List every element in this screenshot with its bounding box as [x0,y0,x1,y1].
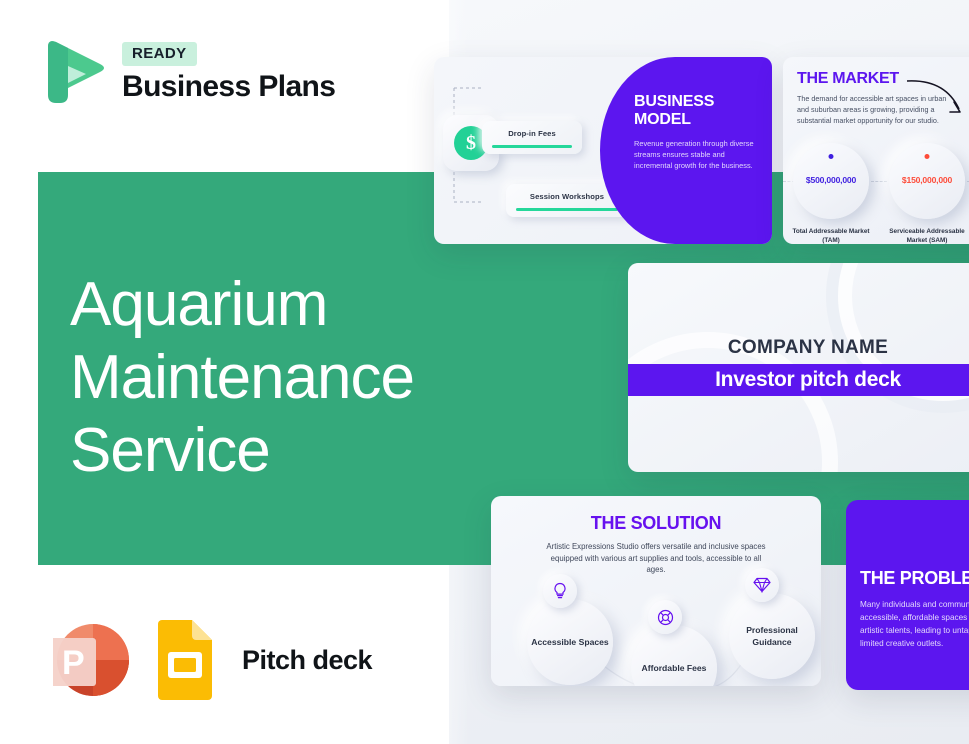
problem-title: THE PROBLEM [860,568,969,589]
accent-bar [492,145,572,148]
solution-description: Artistic Expressions Studio offers versa… [541,541,771,576]
lightbulb-icon [552,582,568,600]
format-label: Pitch deck [242,645,372,676]
market-description: The demand for accessible art spaces in … [797,93,959,126]
slide-the-market[interactable]: THE MARKET The demand for accessible art… [783,57,969,244]
revenue-item-label: Drop-in Fees [482,121,582,138]
powerpoint-icon: P [40,616,136,704]
metric-caption: Total Addressable Market (TAM) [783,227,879,244]
business-model-description: Revenue generation through diverse strea… [634,138,758,171]
market-title: THE MARKET [797,70,899,88]
solution-node-0[interactable]: Accessible Spaces [527,599,613,685]
market-dash-mid [871,181,887,182]
market-metric-0: $500,000,000 [793,143,869,219]
metric-caption: Serviceable Addressable Market (SAM) [879,227,969,244]
business-model-title: BUSINESS MODEL [634,93,758,129]
company-name: COMPANY NAME [628,337,969,359]
problem-description: Many individuals and communities lack ac… [860,598,969,650]
slide-business-model[interactable]: $ Drop-in Fees Session Workshops Commiss… [434,57,772,244]
metric-dot [925,154,930,159]
solution-title: THE SOLUTION [491,513,821,534]
page-title-line-3: Service [70,414,490,487]
slide-the-problem[interactable]: THE PROBLEM Many individuals and communi… [846,500,969,690]
svg-text:P: P [62,644,85,682]
metric-value: $150,000,000 [889,175,965,185]
accent-bar [516,208,618,211]
market-metric-1: $150,000,000 [889,143,965,219]
investor-pitch-label: Investor pitch deck [715,368,901,392]
page-title: Aquarium Maintenance Service [70,268,490,487]
format-row: P Pitch deck [40,616,372,704]
investor-pitch-band: Investor pitch deck [628,364,969,396]
solution-node-label: Accessible Spaces [531,636,608,648]
business-model-panel: BUSINESS MODEL Revenue generation throug… [600,57,772,244]
metric-dot [829,154,834,159]
solution-node-label: Professional Guidance [729,624,815,648]
slide-the-solution[interactable]: THE SOLUTION Artistic Expressions Studio… [491,496,821,686]
solution-node-label: Affordable Fees [642,662,707,674]
metric-value: $500,000,000 [793,175,869,185]
ready-badge: READY [122,42,197,66]
solution-node-1[interactable]: Affordable Fees [631,625,717,686]
lifebuoy-icon [657,609,674,626]
google-slides-icon [154,620,216,700]
play-triangle-logo-icon [38,33,108,111]
brand-logo: READY Business Plans [38,33,335,111]
page-title-line-1: Aquarium [70,268,490,341]
slide-company-name[interactable]: COMPANY NAME Investor pitch deck [628,263,969,472]
lifebuoy-badge [648,600,682,634]
brand-name: Business Plans [122,70,335,104]
solution-node-2[interactable]: Professional Guidance [729,593,815,679]
revenue-item-0[interactable]: Drop-in Fees [482,121,582,154]
lightbulb-badge [543,574,577,608]
diamond-icon [753,577,771,593]
diamond-badge [745,568,779,602]
page-title-line-2: Maintenance [70,341,490,414]
